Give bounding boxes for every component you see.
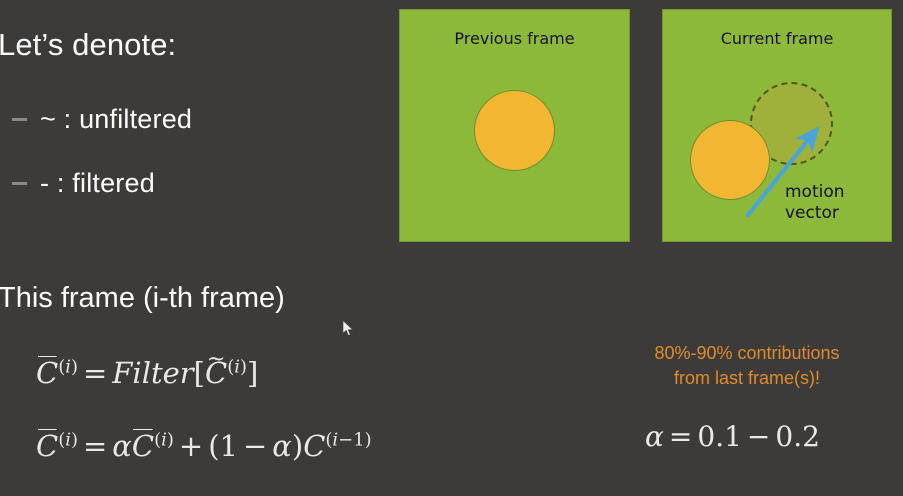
c-bar-symbol: C <box>36 355 58 390</box>
alpha-high-value: 0.2 <box>775 420 820 453</box>
filter-operator: Filter <box>112 356 193 390</box>
mouse-pointer-icon <box>342 320 356 338</box>
list-item-label: - : filtered <box>40 168 155 199</box>
motion-vector-arrow <box>663 10 893 243</box>
previous-frame-title: Previous frame <box>400 29 629 48</box>
minus-sign: − <box>238 429 272 463</box>
bracket-close: ] <box>247 356 258 390</box>
formula-alpha-value: α=0.1−0.2 <box>645 420 820 453</box>
c-bar-symbol: C <box>132 428 154 463</box>
exponent-i: (i) <box>58 429 78 450</box>
plus-sign: + <box>174 429 208 463</box>
motion-vector-label: motion vector <box>785 182 845 225</box>
exponent-i: (i) <box>58 356 78 377</box>
equals-sign: = <box>78 429 112 463</box>
one-literal: 1 <box>220 429 238 463</box>
list-item: ~ : unfiltered <box>12 104 192 135</box>
c-tilde-symbol: ~C <box>205 355 227 390</box>
bullet-dash-icon <box>12 118 27 121</box>
formula-blend: C(i)=αC(i)+(1−α)C(i−1) <box>36 428 372 463</box>
formula-filter: C(i)=Filter[~C(i)] <box>36 355 258 390</box>
callout-line-1: 80%-90% contributions <box>597 341 897 366</box>
section-subtitle: This frame (i-th frame) <box>0 282 285 315</box>
alpha-symbol: α <box>645 420 664 453</box>
exponent-i-minus-1: (i−1) <box>325 429 371 450</box>
c-symbol: C <box>303 429 325 463</box>
alpha-symbol: α <box>272 429 292 463</box>
alpha-symbol: α <box>112 429 132 463</box>
motion-vector-label-line-1: motion <box>785 182 845 203</box>
equals-sign: = <box>664 420 697 453</box>
list-item: - : filtered <box>12 168 155 199</box>
paren-close: ) <box>292 429 303 463</box>
motion-vector-label-line-2: vector <box>785 203 845 224</box>
paren-open: ( <box>208 429 219 463</box>
callout-contributions: 80%-90% contributions from last frame(s)… <box>597 341 897 391</box>
page-title: Let’s denote: <box>0 28 176 62</box>
bullet-dash-icon <box>12 182 27 185</box>
alpha-low-value: 0.1 <box>697 420 742 453</box>
slide-canvas: Let’s denote: ~ : unfiltered - : filtere… <box>0 0 903 496</box>
exponent-i: (i) <box>227 356 247 377</box>
c-bar-symbol: C <box>36 428 58 463</box>
range-dash: − <box>742 420 775 453</box>
diagram-previous-frame: Previous frame <box>399 9 630 242</box>
diagram-current-frame: Current frame motion vector <box>662 9 892 242</box>
bracket-open: [ <box>194 356 205 390</box>
callout-line-2: from last frame(s)! <box>597 366 897 391</box>
equals-sign: = <box>78 356 112 390</box>
object-disc <box>474 90 555 171</box>
list-item-label: ~ : unfiltered <box>40 104 192 135</box>
exponent-i: (i) <box>154 429 174 450</box>
